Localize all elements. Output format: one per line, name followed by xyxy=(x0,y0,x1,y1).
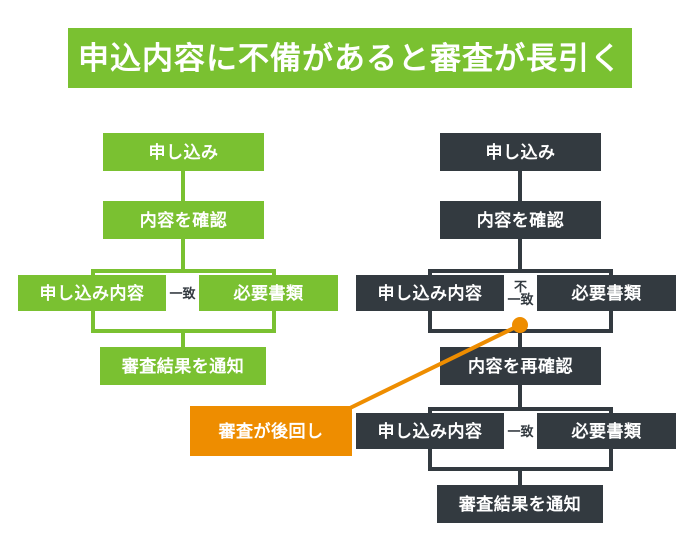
right-node-check-label: 内容を確認 xyxy=(477,212,565,229)
left-connector-apply-to-check xyxy=(181,171,185,201)
left-compare-label: 一致 xyxy=(166,275,199,311)
right-node-required-documents-1: 必要書類 xyxy=(537,275,676,311)
right-compare-label-mismatch-line2: 一致 xyxy=(507,293,533,306)
diagram-canvas: 申込内容に不備があると審査が長引く 申し込み 内容を確認 申し込み内容 一致 必… xyxy=(0,0,700,549)
left-node-application-content-label: 申し込み内容 xyxy=(40,285,145,302)
right-compare-label-mismatch: 不 一致 xyxy=(504,275,537,311)
right-node-application-content-2: 申し込み内容 xyxy=(356,413,504,449)
left-connector-check-to-split xyxy=(181,239,185,273)
left-node-check: 内容を確認 xyxy=(103,201,264,239)
right-split-bar-top-1 xyxy=(428,269,613,273)
page-title: 申込内容に不備があると審査が長引く xyxy=(78,43,622,74)
right-node-application-content-2-label: 申し込み内容 xyxy=(378,423,483,440)
right-connector-check-to-split xyxy=(518,239,522,273)
right-node-required-documents-2: 必要書類 xyxy=(537,413,676,449)
right-node-apply: 申し込み xyxy=(440,133,601,171)
left-node-required-documents: 必要書類 xyxy=(199,275,338,311)
right-node-recheck: 内容を再確認 xyxy=(440,347,601,385)
right-node-required-documents-2-label: 必要書類 xyxy=(572,423,642,440)
page-title-banner: 申込内容に不備があると審査が長引く xyxy=(68,28,632,88)
right-connector-apply-to-check xyxy=(518,171,522,201)
right-compare-label-match-text: 一致 xyxy=(507,425,533,438)
right-compare-label-match: 一致 xyxy=(504,413,537,449)
left-node-check-label: 内容を確認 xyxy=(140,212,228,229)
left-node-apply: 申し込み xyxy=(103,133,264,171)
right-node-application-content-1-label: 申し込み内容 xyxy=(378,285,483,302)
left-node-apply-label: 申し込み xyxy=(149,144,219,161)
left-compare-label-text: 一致 xyxy=(169,287,195,300)
right-node-recheck-label: 内容を再確認 xyxy=(468,358,573,375)
right-node-notify-result: 審査結果を通知 xyxy=(437,485,603,523)
right-node-application-content-1: 申し込み内容 xyxy=(356,275,504,311)
right-node-check: 内容を確認 xyxy=(440,201,601,239)
right-node-notify-result-label: 審査結果を通知 xyxy=(459,496,582,513)
left-node-notify-result-label: 審査結果を通知 xyxy=(122,358,245,375)
right-split-bar-top-2 xyxy=(428,407,613,411)
callout-node-postponed: 審査が後回し xyxy=(190,406,352,456)
left-node-required-documents-label: 必要書類 xyxy=(234,285,304,302)
left-split-bar-top xyxy=(91,269,276,273)
left-node-notify-result: 審査結果を通知 xyxy=(100,347,266,385)
left-node-application-content: 申し込み内容 xyxy=(18,275,166,311)
callout-node-postponed-label: 審査が後回し xyxy=(219,423,324,440)
right-node-required-documents-1-label: 必要書類 xyxy=(572,285,642,302)
right-node-apply-label: 申し込み xyxy=(486,144,556,161)
